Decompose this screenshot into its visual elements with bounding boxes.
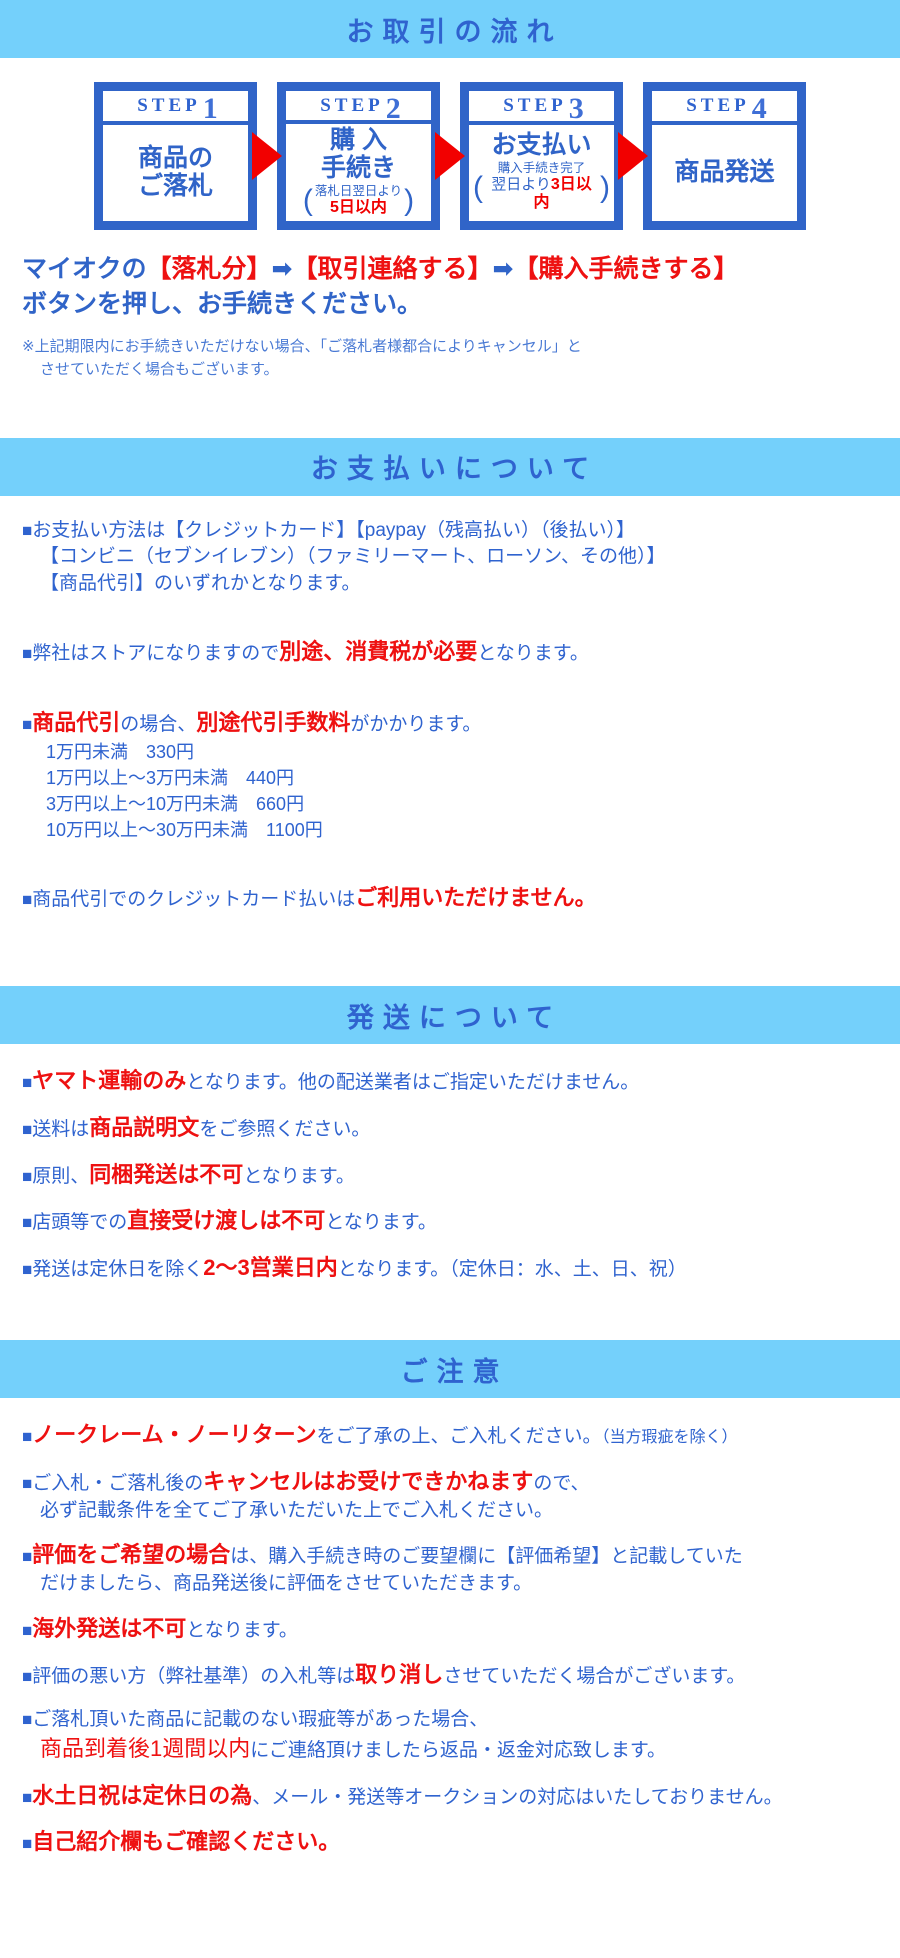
square-bullet-icon: ■ (22, 890, 32, 909)
step-1-header: STEP 1 (103, 91, 248, 125)
arrow-right-icon: ➡ (493, 255, 514, 283)
step-2-label: STEP (316, 95, 384, 117)
caution-defect-pre: ご落札頂いた商品に記載のない瑕疵等があった場合、 (32, 1709, 488, 1730)
caution-item-holiday: ■水土日祝は定休日の為、メール・発送等オークションの対応はいたしておりません。 (22, 1781, 900, 1812)
shipping-fee-pre: 送料は (32, 1119, 89, 1140)
square-bullet-icon: ■ (22, 715, 32, 734)
lead-link-kounyu: 【購入手続きする】 (513, 255, 738, 283)
square-bullet-icon: ■ (22, 1547, 32, 1566)
lead-link-rakusatsu: 【落札分】 (147, 255, 272, 283)
shipping-pickup-highlight: 直接受け渡しは不可 (127, 1208, 325, 1233)
flow-lead-text: マイオクの【落札分】➡【取引連絡する】➡【購入手続きする】 ボタンを押し、お手続… (0, 240, 900, 321)
step-1-label: STEP (133, 95, 201, 117)
shipping-leadtime-highlight: 2～3営業日内 (203, 1255, 337, 1280)
caution-badrating-post: させていただく場合がございます。 (443, 1666, 745, 1687)
payment-cod-item: ■商品代引の場合、別途代引手数料がかかります。 1万円未満 330円 1万円以上… (22, 708, 900, 843)
step-2-header: STEP 2 (286, 91, 431, 124)
shipping-carrier-rest: となります。他の配送業者はご指定いただけません。 (186, 1072, 639, 1093)
square-bullet-icon: ■ (22, 1213, 32, 1232)
caution-overseas-highlight: 海外発送は不可 (32, 1616, 186, 1641)
shipping-leadtime-pre: 発送は定休日を除く (32, 1259, 203, 1280)
lead-link-torihiki: 【取引連絡する】 (292, 255, 492, 283)
step-4-number: 4 (752, 97, 767, 121)
steps-container: STEP 1 商品の ご落札 STEP 2 購 入 手続き (0, 58, 900, 240)
payment-cc-item: ■商品代引でのクレジットカード払いはご利用いただけません。 (22, 883, 900, 914)
square-bullet-icon: ■ (22, 1474, 32, 1493)
payment-tax-item: ■弊社はストアになりますので別途、消費税が必要となります。 (22, 637, 900, 668)
caution-noclaim-highlight: ノークレーム・ノーリターン (32, 1422, 316, 1447)
payment-methods-line1: お支払い方法は【クレジットカード】【paypay（残高払い）（後払い）】 (32, 520, 635, 541)
shipping-item-leadtime: ■発送は定休日を除く2～3営業日内となります。（定休日：水、土、日、祝） (22, 1253, 900, 1284)
square-bullet-icon: ■ (22, 1427, 32, 1446)
paren-open-icon: ( (473, 177, 483, 198)
lead-prefix: マイオクの (22, 255, 147, 283)
payment-methods-line2: 【コンビニ（セブンイレブン）（ファミリーマート、ローソン、その他）】 (22, 544, 900, 571)
step-3-sub-line2: 翌日より3日以内 (491, 176, 592, 211)
shipping-carrier-highlight: ヤマト運輸のみ (32, 1068, 186, 1093)
section-banner-payment: お支払いについて (0, 438, 900, 496)
caution-item-noclaim: ■ノークレーム・ノーリターンをご了承の上、ご入札ください。（当方瑕疵を除く） (22, 1420, 900, 1451)
step-box-2: STEP 2 購 入 手続き ( 落札日翌日より 5日以内 ) (277, 82, 440, 230)
payment-cod-highlight2: 別途代引手数料 (196, 710, 350, 735)
caution-item-badrating: ■評価の悪い方（弊社基準）の入札等は取り消しさせていただく場合がございます。 (22, 1660, 900, 1691)
step-3-sub-line1: 購入手続き完了 (498, 161, 586, 175)
payment-tax-pre: 弊社はストアになりますので (32, 643, 279, 664)
flow-note-line1: ※上記期限内にお手続きいただけない場合、「ご落札者様都合によりキャンセル」と (22, 338, 582, 355)
section-banner-flow: お取引の流れ (0, 0, 900, 58)
caution-cancel-post: ので、 (533, 1473, 589, 1494)
caution-badrating-pre: 評価の悪い方（弊社基準）の入札等は (32, 1666, 355, 1687)
step-2-sub: ( 落札日翌日より 5日以内 ) (303, 184, 414, 217)
shipping-pickup-post: となります。 (325, 1212, 437, 1233)
caution-item-cancel: ■ご入札・ご落札後のキャンセルはお受けできかねますので、 必ず記載条件を全てご了… (22, 1467, 900, 1524)
shipping-leadtime-post: となります。（定休日：水、土、日、祝） (338, 1259, 687, 1280)
step-3-body: お支払い ( 購入手続き完了 翌日より3日以内 ) (469, 125, 614, 221)
fee-row-3: 3万円以上～10万円未満 660円 (22, 791, 900, 817)
caution-overseas-post: となります。 (186, 1620, 298, 1641)
caution-defect-highlight: 商品到着後1週間以内 (40, 1736, 250, 1761)
caution-rating-line2: だけましたら、商品発送後に評価をさせていただきます。 (22, 1571, 900, 1598)
step-3-header: STEP 3 (469, 91, 614, 125)
step-2-main-line1: 購 入 (330, 126, 387, 154)
payment-cod-mid: の場合、 (120, 714, 196, 735)
shipping-combine-post: となります。 (243, 1166, 355, 1187)
step-1-body: 商品の ご落札 (103, 125, 248, 221)
square-bullet-icon: ■ (22, 1710, 32, 1729)
square-bullet-icon: ■ (22, 644, 32, 663)
caution-cancel-pre: ご入札・ご落札後の (32, 1473, 203, 1494)
square-bullet-icon: ■ (22, 1073, 32, 1092)
shipping-item-pickup: ■店頭等での直接受け渡しは不可となります。 (22, 1206, 900, 1237)
payment-block: ■お支払い方法は【クレジットカード】【paypay（残高払い）（後払い）】 【コ… (0, 496, 900, 915)
step-2-number: 2 (386, 97, 401, 121)
section-banner-shipping: 発送について (0, 986, 900, 1044)
caution-cancel-line2: 必ず記載条件を全てご了承いただいた上でご入札ください。 (22, 1498, 900, 1525)
square-bullet-icon: ■ (22, 1167, 32, 1186)
step-box-4: STEP 4 商品発送 (643, 82, 806, 230)
flow-arrow-1 (249, 132, 285, 180)
caution-rating-post: は、購入手続き時のご要望欄に【評価希望】と記載していた (230, 1546, 742, 1567)
square-bullet-icon: ■ (22, 1834, 32, 1853)
step-1-main-line2: ご落札 (138, 172, 213, 200)
step-2-body: 購 入 手続き ( 落札日翌日より 5日以内 ) (286, 124, 431, 221)
arrow-right-icon: ➡ (272, 255, 293, 283)
payment-methods-item: ■お支払い方法は【クレジットカード】【paypay（残高払い）（後払い）】 【コ… (22, 518, 900, 598)
shipping-item-combine: ■原則、同梱発送は不可となります。 (22, 1160, 900, 1191)
shipping-combine-highlight: 同梱発送は不可 (89, 1162, 243, 1187)
step-4-body: 商品発送 (652, 125, 797, 221)
step-2-sub-line1: 落札日翌日より (315, 184, 402, 198)
step-3-sub-lines: 購入手続き完了 翌日より3日以内 (483, 161, 600, 212)
step-4-main-line1: 商品発送 (674, 158, 774, 186)
square-bullet-icon: ■ (22, 1788, 32, 1807)
payment-tax-highlight: 別途、消費税が必要 (279, 639, 477, 664)
flow-arrow-2 (432, 132, 468, 180)
section-banner-caution: ご注意 (0, 1340, 900, 1398)
step-1-main: 商品の ご落札 (138, 144, 213, 200)
caution-banner-title: ご注意 (392, 1350, 509, 1389)
step-3-label: STEP (499, 95, 567, 117)
caution-holiday-highlight: 水土日祝は定休日の為 (32, 1783, 252, 1808)
caution-cancel-highlight: キャンセルはお受けできかねます (203, 1469, 533, 1494)
step-1-number: 1 (203, 97, 218, 121)
shipping-fee-highlight: 商品説明文 (89, 1115, 199, 1140)
step-4-header: STEP 4 (652, 91, 797, 125)
step-4-main: 商品発送 (674, 158, 774, 186)
shipping-combine-pre: 原則、 (32, 1166, 89, 1187)
shipping-item-carrier: ■ヤマト運輸のみとなります。他の配送業者はご指定いただけません。 (22, 1066, 900, 1097)
caution-item-rating: ■評価をご希望の場合は、購入手続き時のご要望欄に【評価希望】と記載していた だけ… (22, 1540, 900, 1597)
step-1-main-line1: 商品の (138, 144, 213, 172)
caution-block: ■ノークレーム・ノーリターンをご了承の上、ご入札ください。（当方瑕疵を除く） ■… (0, 1398, 900, 1858)
fee-row-1: 1万円未満 330円 (22, 739, 900, 765)
caution-item-defect: ■ご落札頂いた商品に記載のない瑕疵等があった場合、 商品到着後1週間以内にご連絡… (22, 1707, 900, 1764)
shipping-fee-post: をご参照ください。 (199, 1119, 370, 1140)
payment-cc-highlight: ご利用いただけません。 (355, 885, 596, 910)
caution-holiday-post: 、メール・発送等オークションの対応はいたしておりません。 (252, 1787, 782, 1808)
step-box-1: STEP 1 商品の ご落札 (94, 82, 257, 230)
paren-close-icon: ) (600, 177, 610, 198)
flow-arrow-3 (615, 132, 651, 180)
flow-note: ※上記期限内にお手続きいただけない場合、「ご落札者様都合によりキャンセル」と さ… (0, 321, 900, 382)
step-2-main: 購 入 手続き (321, 126, 396, 182)
step-box-3: STEP 3 お支払い ( 購入手続き完了 翌日より3日以内 ) (460, 82, 623, 230)
square-bullet-icon: ■ (22, 1667, 32, 1686)
payment-cod-post: がかかります。 (350, 714, 481, 735)
fee-row-2: 1万円以上～3万円未満 440円 (22, 765, 900, 791)
square-bullet-icon: ■ (22, 1260, 32, 1279)
payment-tax-post: となります。 (477, 643, 589, 664)
payment-cod-highlight1: 商品代引 (32, 710, 120, 735)
payment-banner-title: お支払いについて (302, 447, 598, 486)
square-bullet-icon: ■ (22, 1120, 32, 1139)
step-4-label: STEP (682, 95, 750, 117)
shipping-banner-title: 発送について (338, 996, 562, 1035)
caution-item-overseas: ■海外発送は不可となります。 (22, 1614, 900, 1645)
payment-cc-pre: 商品代引でのクレジットカード払いは (32, 889, 355, 910)
step-3-main: お支払い (491, 131, 591, 159)
shipping-item-fee: ■送料は商品説明文をご参照ください。 (22, 1113, 900, 1144)
lead-line2: ボタンを押し、お手続きください。 (22, 290, 422, 318)
flow-banner-title: お取引の流れ (338, 10, 563, 49)
caution-defect-line2: 商品到着後1週間以内にご連絡頂けましたら返品・返金対応致します。 (22, 1734, 900, 1765)
step-3-main-line1: お支払い (491, 131, 591, 159)
paren-open-icon: ( (303, 190, 313, 211)
auction-terms-page: お取引の流れ STEP 1 商品の ご落札 STEP 2 購 入 (0, 0, 900, 1858)
shipping-block: ■ヤマト運輸のみとなります。他の配送業者はご指定いただけません。 ■送料は商品説… (0, 1044, 900, 1284)
fee-row-4: 10万円以上～30万円未満 1100円 (22, 817, 900, 843)
step-2-sub-line2: 5日以内 (330, 199, 387, 216)
caution-badrating-highlight: 取り消し (355, 1662, 443, 1687)
flow-note-line2: させていただく場合もございます。 (22, 358, 900, 381)
caution-rating-highlight: 評価をご希望の場合 (32, 1542, 230, 1567)
caution-item-profile: ■自己紹介欄もご確認ください。 (22, 1827, 900, 1858)
step-2-main-line2: 手続き (321, 154, 396, 182)
step-3-number: 3 (569, 97, 584, 121)
step-2-sub-lines: 落札日翌日より 5日以内 (313, 184, 404, 217)
caution-defect-second: にご連絡頂けましたら返品・返金対応致します。 (250, 1740, 666, 1761)
caution-noclaim-tail: （当方瑕疵を除く） (602, 1429, 738, 1446)
caution-noclaim-post: をご了承の上、ご入札ください。 (317, 1426, 602, 1447)
paren-close-icon: ) (404, 190, 414, 211)
caution-profile-highlight: 自己紹介欄もご確認ください。 (32, 1829, 340, 1854)
payment-methods-line3: 【商品代引】のいずれかとなります。 (22, 571, 900, 598)
square-bullet-icon: ■ (22, 1621, 32, 1640)
shipping-pickup-pre: 店頭等での (32, 1212, 127, 1233)
square-bullet-icon: ■ (22, 521, 32, 540)
step-3-sub: ( 購入手続き完了 翌日より3日以内 ) (473, 161, 610, 212)
